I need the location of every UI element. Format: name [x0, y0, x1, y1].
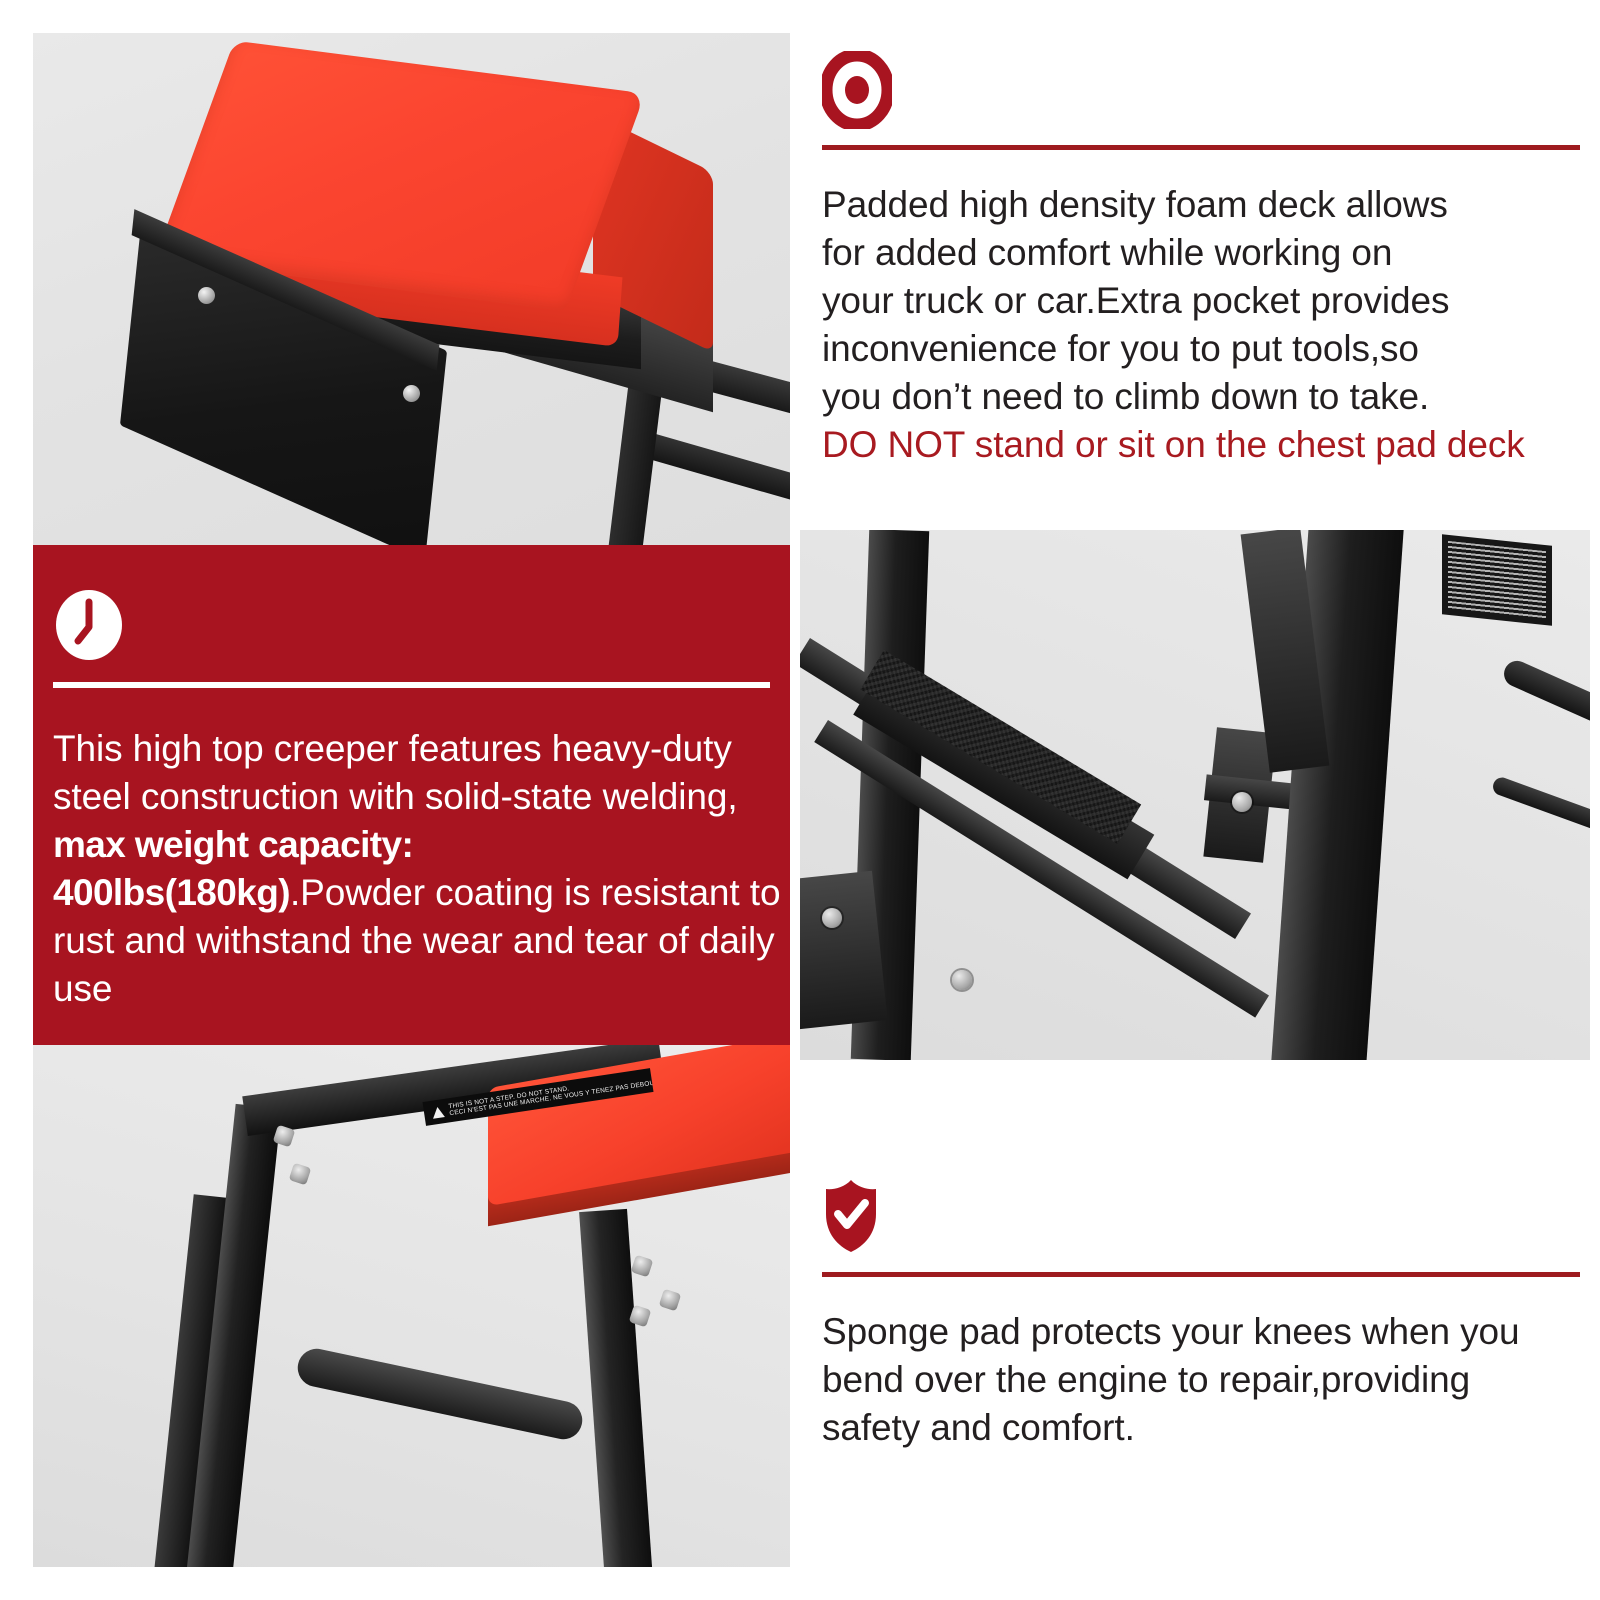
feature-knee-line-2: safety and comfort. — [822, 1404, 1576, 1452]
feature-capacity-divider — [53, 682, 770, 688]
photo-deck-pocket-art — [33, 33, 790, 545]
feature-deck-line-3: inconvenience for you to put tools,so — [822, 325, 1576, 373]
clock-icon — [53, 587, 123, 665]
feature-deck-divider — [822, 145, 1580, 150]
feature-capacity-panel: This high top creeper features heavy-dut… — [33, 545, 790, 1045]
feature-knee-line-0: Sponge pad protects your knees when you — [822, 1308, 1576, 1356]
frame-spec-label — [1442, 534, 1552, 626]
target-icon — [822, 51, 892, 129]
feature-knee-panel: Sponge pad protects your knees when you … — [800, 1150, 1580, 1480]
feature-deck-line-4: you don’t need to climb down to take. — [822, 373, 1576, 421]
feature-deck-line-1: for added comfort while working on — [822, 229, 1576, 277]
feature-capacity-text: This high top creeper features heavy-dut… — [53, 725, 784, 1014]
feature-deck-line-0: Padded high density foam deck allows — [822, 181, 1576, 229]
photo-step-plate-art — [800, 530, 1590, 1060]
feature-knee-divider — [822, 1272, 1580, 1277]
feature-deck-line-2: your truck or car.Extra pocket provides — [822, 277, 1576, 325]
feature-deck-panel: Padded high density foam deck allows for… — [800, 33, 1580, 483]
feature-deck-warning: DO NOT stand or sit on the chest pad dec… — [822, 421, 1576, 469]
feature-knee-line-1: bend over the engine to repair,providing — [822, 1356, 1576, 1404]
infographic-canvas: Padded high density foam deck allows for… — [0, 0, 1600, 1600]
shield-check-icon — [822, 1178, 880, 1254]
feature-capacity-text-before: This high top creeper features heavy-dut… — [53, 728, 738, 817]
photo-step-plate — [800, 530, 1590, 1060]
feature-knee-text: Sponge pad protects your knees when you … — [822, 1308, 1576, 1452]
warning-triangle-icon — [431, 1106, 444, 1119]
photo-frame-handle-art: THIS IS NOT A STEP. DO NOT STAND. CECI N… — [33, 1045, 790, 1567]
photo-frame-handle: THIS IS NOT A STEP. DO NOT STAND. CECI N… — [33, 1045, 790, 1567]
feature-deck-text: Padded high density foam deck allows for… — [822, 181, 1576, 470]
photo-deck-pocket — [33, 33, 790, 545]
